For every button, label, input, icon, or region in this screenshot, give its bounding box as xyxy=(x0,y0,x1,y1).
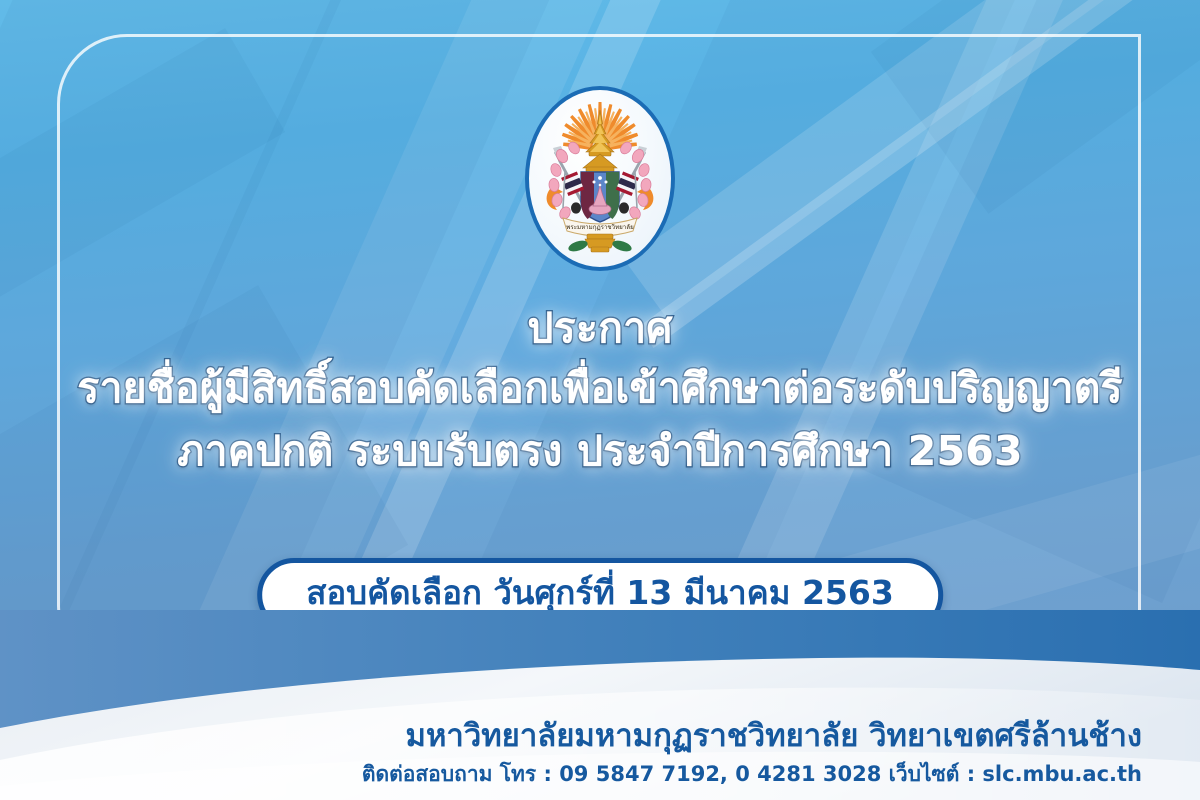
poster-footer: มหาวิทยาลัยมหามกุฏราชวิทยาลัย วิทยาเขตศร… xyxy=(0,610,1200,800)
university-emblem: พระมหามกุฏราชวิทยาลัย xyxy=(525,86,675,271)
emblem-icon: พระมหามกุฏราชวิทยาลัย xyxy=(529,90,671,267)
announcement-headline: ประกาศ รายชื่อผู้มีสิทธิ์สอบคัดเลือกเพื่… xyxy=(0,300,1200,482)
svg-text:พระมหามกุฏราชวิทยาลัย: พระมหามกุฏราชวิทยาลัย xyxy=(566,224,634,231)
announcement-poster: พระมหามกุฏราชวิทยาลัย ประกาศ รายชื่อผู้ม… xyxy=(0,0,1200,800)
footer-contact-info: ติดต่อสอบถาม โทร : 09 5847 7192, 0 4281 … xyxy=(0,758,1142,790)
headline-line-2: รายชื่อผู้มีสิทธิ์สอบคัดเลือกเพื่อเข้าศึ… xyxy=(0,356,1200,420)
footer-university-name: มหาวิทยาลัยมหามกุฏราชวิทยาลัย วิทยาเขตศร… xyxy=(0,714,1142,758)
headline-line-1: ประกาศ xyxy=(0,300,1200,356)
headline-line-3: ภาคปกติ ระบบรับตรง ประจำปีการศึกษา 2563 xyxy=(0,420,1200,482)
